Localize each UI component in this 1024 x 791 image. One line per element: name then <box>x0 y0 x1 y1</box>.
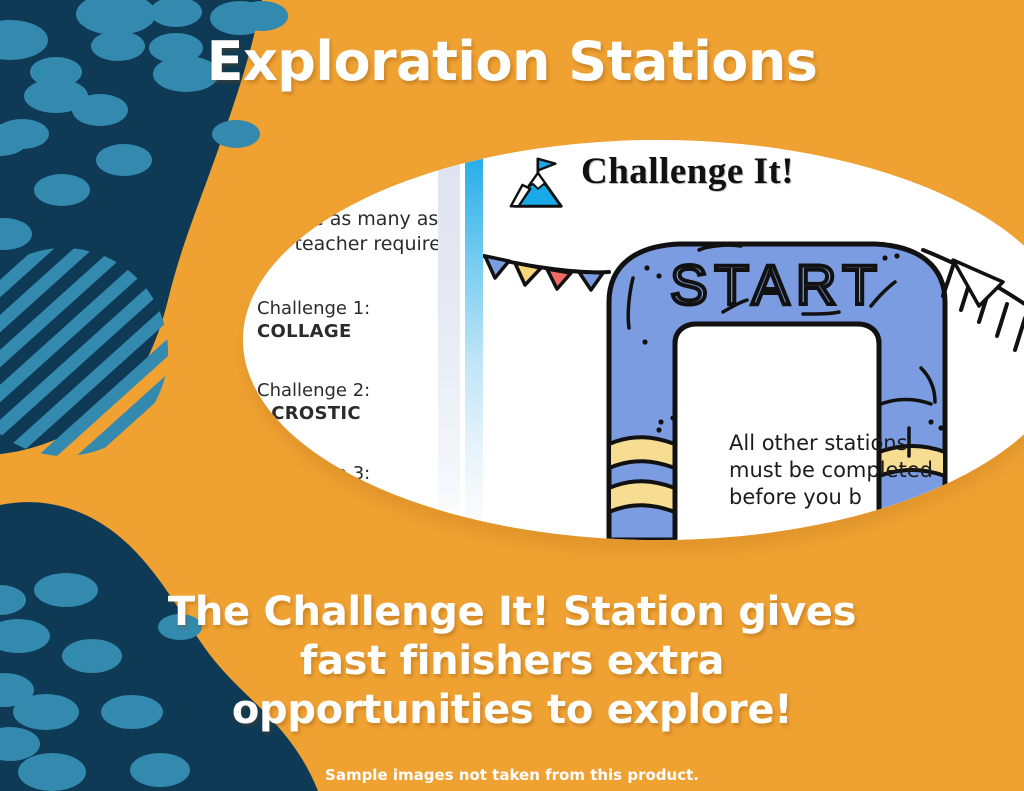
challenge-3-name-line-2: ERIMENT <box>257 509 350 530</box>
challenge-1-label: Challenge 1: <box>257 298 370 319</box>
left-line-1: e next slides. <box>257 160 383 182</box>
bunting-flags-left <box>485 256 603 290</box>
challenge-3-label: Challenge 3: <box>257 463 370 484</box>
left-line-3: our teacher requires. <box>257 233 457 255</box>
arch-text-line-2: must be completed <box>729 457 1024 484</box>
arch-text-line-3: before you b <box>729 484 1024 511</box>
challenge-2-label: Challenge 2: <box>257 380 370 401</box>
caption-line-2: fast finishers extra <box>0 637 1024 686</box>
striped-circle <box>0 240 190 480</box>
caption-block: The Challenge It! Station gives fast fin… <box>0 588 1024 734</box>
slide-divider-cyan <box>465 140 483 540</box>
challenge-1-name: COLLAGE <box>257 321 352 342</box>
oval-image-frame: e next slides. mplete as many as our tea… <box>243 140 1024 540</box>
footer-disclaimer: Sample images not taken from this produc… <box>0 766 1024 784</box>
slide-divider-lavender <box>438 140 460 540</box>
slide-left-panel: e next slides. mplete as many as our tea… <box>243 140 501 540</box>
challenge-2-name: ACROSTIC <box>257 403 361 424</box>
mountain-flag-icon <box>505 152 567 214</box>
page-title: Exploration Stations <box>0 30 1024 93</box>
teal-dot <box>236 1 288 31</box>
caption-line-3: opportunities to explore! <box>0 686 1024 735</box>
slide-right-panel: Challenge It! <box>483 140 1024 540</box>
arch-text-line-1: All other stations <box>729 430 1024 457</box>
challenge-3-name-line-1: SIGN AN <box>257 486 344 507</box>
poster-canvas: Exploration Stations e next slides. mple… <box>0 0 1024 791</box>
left-line-2: mplete as many as <box>257 208 438 230</box>
arch-instruction-text: All other stations must be completed bef… <box>729 430 1024 511</box>
challenge-it-heading: Challenge It! <box>581 150 794 193</box>
caption-line-1: The Challenge It! Station gives <box>0 588 1024 637</box>
arch-start-word: START <box>670 253 883 316</box>
bunting-flag-right <box>953 260 1003 306</box>
